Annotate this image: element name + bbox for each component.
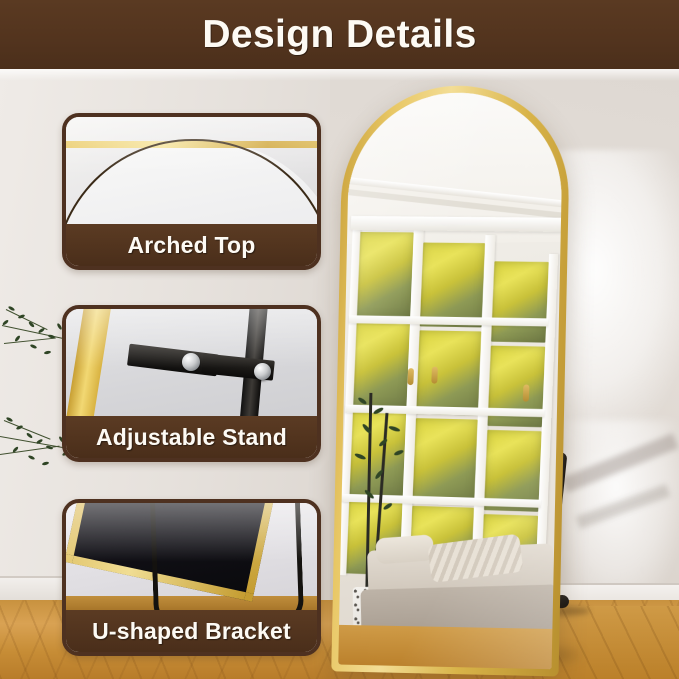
stand-bolt-icon-2 [254,363,271,380]
mirror-glass [338,90,563,669]
u-shaped-bracket-icon [150,503,305,610]
feature-photo-arched-top [66,117,317,224]
window-handle-left [407,368,414,385]
feature-label-u-shaped-bracket: U-shaped Bracket [66,610,317,652]
feature-label-arched-top: Arched Top [66,224,317,266]
page-title: Design Details [202,13,476,57]
header-sheen [0,69,679,81]
infographic-canvas: Design Details Arched Top Adjustable St [0,0,679,679]
window-handle-mid [431,367,438,384]
feature-label-text: Arched Top [127,232,255,259]
feature-card-adjustable-stand: Adjustable Stand [62,305,321,462]
header-banner: Design Details [0,0,679,69]
feature-label-text: U-shaped Bracket [92,618,291,645]
reflection-floor [338,625,552,669]
feature-label-text: Adjustable Stand [96,424,287,451]
window-handle-right [523,384,530,401]
product-mirror [336,86,564,674]
feature-label-adjustable-stand: Adjustable Stand [66,416,317,458]
stand-bolt-icon-1 [182,353,200,371]
baseboard-left [0,576,70,602]
feature-card-u-shaped-bracket: U-shaped Bracket [62,499,321,656]
feature-photo-u-shaped-bracket [66,503,317,610]
mirror-gold-frame [331,83,571,676]
feature-card-arched-top: Arched Top [62,113,321,270]
feature-photo-adjustable-stand [66,309,317,416]
plant-branch-upper [0,285,70,375]
